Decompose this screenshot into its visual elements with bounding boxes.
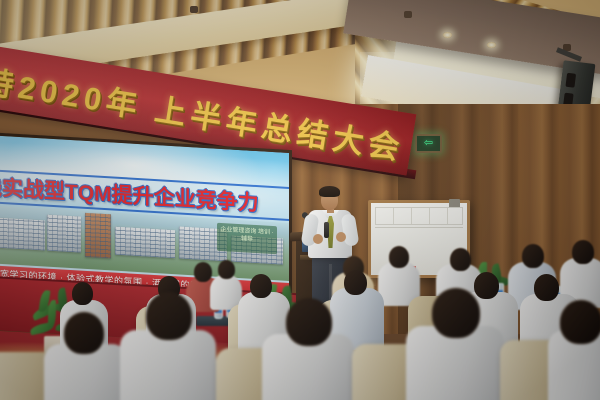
- attendee-head: [522, 244, 544, 268]
- conference-hall-photo: ⇦ 特2020年 上半年总结大会 践实战型TQM提升企业竞争力 企业管理咨询 培…: [0, 0, 600, 400]
- attendee-head: [572, 240, 594, 264]
- attendee-head: [344, 270, 367, 295]
- attendee-head: [432, 288, 480, 338]
- attendee-body: [120, 330, 216, 400]
- presenter-hand-left: [313, 234, 323, 244]
- exit-arrow-icon: ⇦: [424, 138, 433, 149]
- downlight-icon: [487, 42, 496, 48]
- screen-glare: [0, 135, 289, 303]
- attendee-head: [250, 274, 272, 298]
- attendee-head: [146, 292, 192, 340]
- attendee-head: [534, 274, 559, 301]
- presenter-hand-right: [336, 232, 346, 242]
- attendee-head: [64, 312, 104, 354]
- attendee-head: [474, 272, 499, 299]
- attendee-head: [450, 248, 471, 271]
- downlight-icon: [443, 32, 452, 38]
- attendee-head: [389, 246, 409, 268]
- presenter-hair: [319, 186, 340, 197]
- attendee-head: [286, 298, 332, 346]
- attendee-head: [194, 262, 212, 282]
- ceiling-speaker-icon: [404, 11, 412, 18]
- flipchart-grid: [375, 207, 463, 225]
- attendee-head: [218, 260, 235, 279]
- flipchart-rule: [375, 227, 463, 228]
- handheld-microphone-icon: [324, 222, 329, 238]
- ceiling-speaker-icon: [190, 6, 198, 13]
- attendee-head: [560, 300, 600, 344]
- exit-sign: ⇦: [415, 134, 442, 153]
- attendee-head: [72, 282, 93, 305]
